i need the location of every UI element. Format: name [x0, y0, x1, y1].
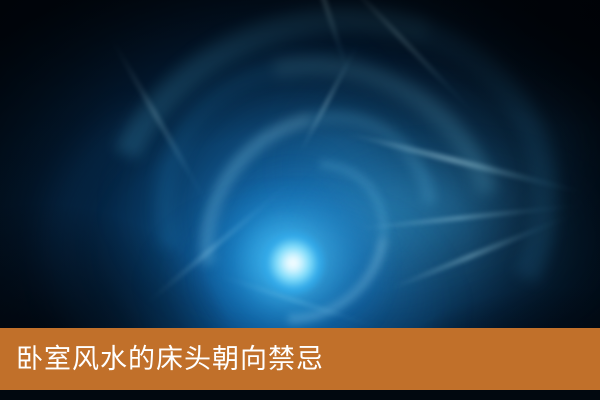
caption-bar: 卧室风水的床头朝向禁忌 — [0, 328, 600, 390]
bottom-strip — [0, 390, 600, 400]
image-canvas: 卧室风水的床头朝向禁忌 — [0, 0, 600, 400]
caption-title: 卧室风水的床头朝向禁忌 — [0, 346, 324, 373]
